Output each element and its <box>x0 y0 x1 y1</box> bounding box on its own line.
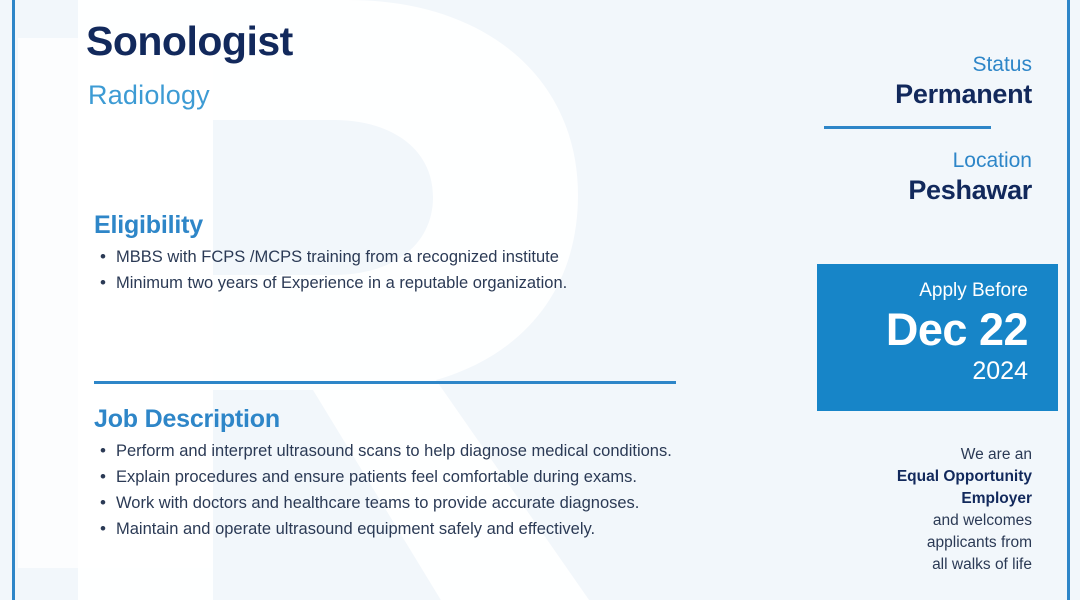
page-title: Sonologist <box>86 20 293 63</box>
apply-before-label: Apply Before <box>829 280 1028 303</box>
left-vertical-rule <box>12 0 15 600</box>
right-vertical-rule <box>1067 0 1070 600</box>
section-divider <box>94 381 676 384</box>
equal-opportunity-statement: We are an Equal Opportunity Employer and… <box>802 444 1032 576</box>
location-label: Location <box>908 148 1032 174</box>
list-item: Perform and interpret ultrasound scans t… <box>116 439 814 464</box>
job-description-list: Perform and interpret ultrasound scans t… <box>94 439 814 542</box>
apply-before-box: Apply Before Dec 22 2024 <box>817 264 1058 411</box>
job-description-heading: Job Description <box>94 405 814 434</box>
eoe-strong-2: Employer <box>961 490 1032 507</box>
eoe-line-3: applicants from <box>927 534 1032 551</box>
apply-deadline-year: 2024 <box>829 356 1028 386</box>
eligibility-section: Eligibility MBBS with FCPS /MCPS trainin… <box>94 211 794 297</box>
list-item: Maintain and operate ultrasound equipmen… <box>116 517 814 542</box>
eoe-line-4: all walks of life <box>932 556 1032 573</box>
location-block: Location Peshawar <box>908 148 1032 208</box>
eoe-line-1: We are an <box>961 446 1032 463</box>
eligibility-heading: Eligibility <box>94 211 794 240</box>
list-item: MBBS with FCPS /MCPS training from a rec… <box>116 245 794 270</box>
list-item: Work with doctors and healthcare teams t… <box>116 491 814 516</box>
status-label: Status <box>895 52 1032 78</box>
list-item: Explain procedures and ensure patients f… <box>116 465 814 490</box>
eligibility-list: MBBS with FCPS /MCPS training from a rec… <box>94 245 794 296</box>
job-description-section: Job Description Perform and interpret ul… <box>94 405 814 543</box>
status-value: Permanent <box>895 78 1032 112</box>
list-item: Minimum two years of Experience in a rep… <box>116 271 794 296</box>
status-divider <box>824 126 991 129</box>
department-label: Radiology <box>88 80 210 111</box>
status-block: Status Permanent <box>895 52 1032 112</box>
eoe-strong-1: Equal Opportunity <box>897 468 1032 485</box>
apply-deadline-date: Dec 22 <box>829 305 1028 355</box>
eoe-line-2: and welcomes <box>933 512 1032 529</box>
job-posting-poster: Sonologist Radiology Status Permanent Lo… <box>0 0 1080 600</box>
location-value: Peshawar <box>908 174 1032 208</box>
